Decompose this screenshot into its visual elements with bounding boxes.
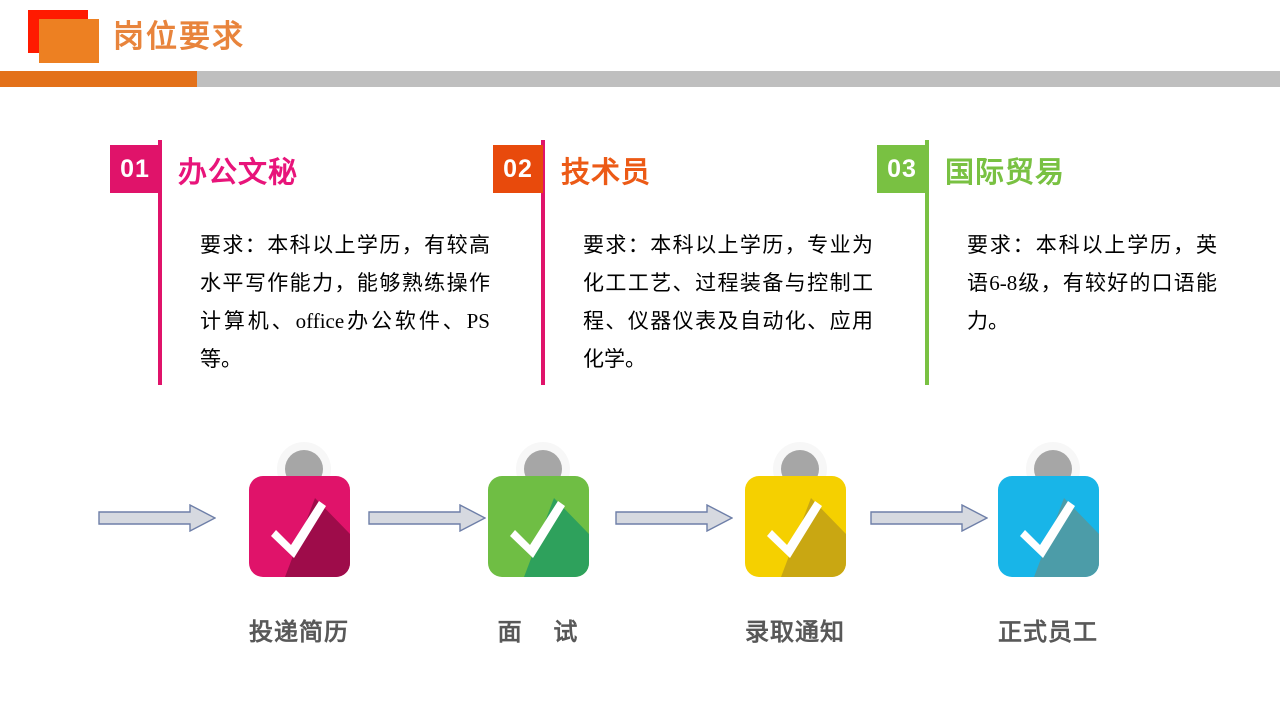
hiring-process-flow: 投递简历 面 试 [0, 440, 1280, 650]
flag-marker-2: 02 技术员 要求：本科以上学历，专业为化工工艺、过程装备与控制工程、仪器仪表及… [493, 140, 868, 390]
job-title-2: 技术员 [561, 149, 651, 191]
icon-check-2 [488, 476, 589, 577]
logo-square-orange [39, 19, 99, 63]
job-title-3: 国际贸易 [945, 149, 1065, 191]
flag-number-3: 03 [877, 145, 927, 193]
icon-check-4 [998, 476, 1099, 577]
flow-step-label-3: 录取通知 [705, 612, 885, 647]
flag-number-2: 02 [493, 145, 543, 193]
clipboard-check-icon-2 [483, 440, 593, 580]
job-body-2: 要求：本科以上学历，专业为化工工艺、过程装备与控制工程、仪器仪表及自动化、应用化… [583, 226, 873, 378]
job-column-3: 03 国际贸易 要求：本科以上学历，英语6-8级，有较好的口语能力。 [877, 140, 1237, 390]
flag-number-1: 01 [110, 145, 160, 193]
header-divider-accent [0, 71, 197, 87]
clipboard-check-icon-3 [740, 440, 850, 580]
job-body-1: 要求：本科以上学历，有较高水平写作能力，能够熟练操作计算机、office办公软件… [200, 226, 490, 378]
flow-step-4: 正式员工 [958, 440, 1138, 647]
flow-arrow-1 [98, 504, 216, 532]
flow-step-label-2: 面 试 [448, 612, 628, 647]
clipboard-check-icon-1 [244, 440, 354, 580]
job-column-1: 01 办公文秘 要求：本科以上学历，有较高水平写作能力，能够熟练操作计算机、of… [110, 140, 490, 390]
flow-step-2: 面 试 [448, 440, 628, 647]
icon-check-1 [249, 476, 350, 577]
flow-step-3: 录取通知 [705, 440, 885, 647]
page-header: 岗位要求 [0, 0, 1280, 90]
flow-step-1: 投递简历 [209, 440, 389, 647]
clipboard-check-icon-4 [993, 440, 1103, 580]
job-title-1: 办公文秘 [178, 149, 298, 191]
icon-check-3 [745, 476, 846, 577]
page-title: 岗位要求 [113, 16, 245, 58]
job-body-3: 要求：本科以上学历，英语6-8级，有较好的口语能力。 [967, 226, 1217, 340]
flow-step-label-1: 投递简历 [209, 612, 389, 647]
flag-marker-3: 03 国际贸易 要求：本科以上学历，英语6-8级，有较好的口语能力。 [877, 140, 1237, 390]
flow-step-label-4: 正式员工 [958, 612, 1138, 647]
job-column-2: 02 技术员 要求：本科以上学历，专业为化工工艺、过程装备与控制工程、仪器仪表及… [493, 140, 868, 390]
flag-marker-1: 01 办公文秘 要求：本科以上学历，有较高水平写作能力，能够熟练操作计算机、of… [110, 140, 490, 390]
